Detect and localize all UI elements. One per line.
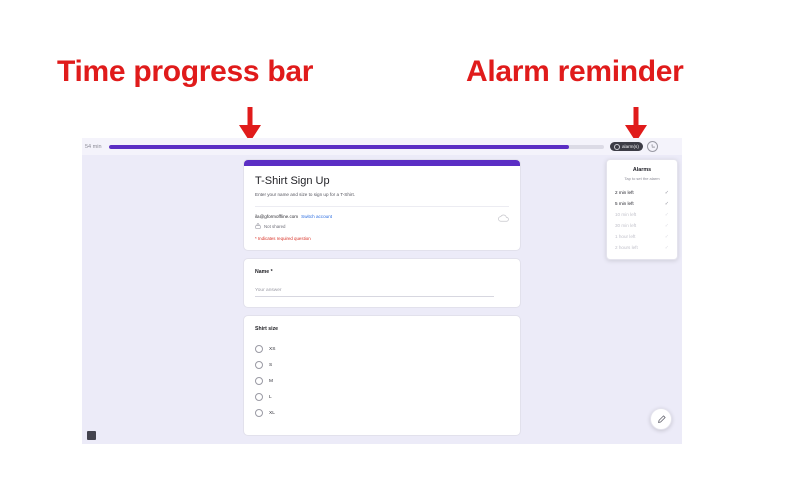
alarm-bell-icon	[614, 144, 620, 150]
option-row[interactable]: L	[255, 393, 509, 401]
option-label: S	[269, 363, 272, 368]
annotation-time-progress-bar: Time progress bar	[57, 55, 313, 89]
alarm-option-row[interactable]: 30 min left ✓	[607, 220, 677, 231]
shared-status-label: Not shared	[264, 224, 285, 229]
app-badge-icon[interactable]	[87, 431, 96, 440]
check-icon: ✓	[665, 212, 669, 218]
question-label-shirt-size: Shirt size	[255, 326, 509, 332]
check-icon: ✓	[665, 201, 669, 207]
alarm-option-label: 5 min left	[615, 201, 634, 206]
alarm-option-label: 10 min left	[615, 212, 636, 217]
alarm-option-row[interactable]: 10 min left ✓	[607, 209, 677, 220]
option-label: XS	[269, 347, 275, 352]
option-row[interactable]: M	[255, 377, 509, 385]
question-label-name: Name *	[255, 269, 509, 275]
check-icon: ✓	[665, 190, 669, 196]
check-icon: ✓	[665, 245, 669, 251]
required-question-note: * Indicates required question	[255, 236, 509, 241]
time-progress-bar[interactable]	[109, 145, 604, 149]
edit-button[interactable]	[650, 408, 672, 430]
option-row[interactable]: XL	[255, 409, 509, 417]
account-row: ila@gformoffline.comSwitch account Not s…	[255, 206, 509, 229]
alarm-option-row[interactable]: 2 hours left ✓	[607, 242, 677, 253]
app-window: 54 min alarm(s) T-Shirt Sign Up Enter yo…	[82, 138, 682, 444]
radio-icon[interactable]	[255, 345, 263, 353]
radio-icon[interactable]	[255, 361, 263, 369]
answer-input-name[interactable]: Your answer	[255, 288, 494, 297]
time-left-label: 54 min	[85, 144, 107, 150]
toolbar-right-group: alarm(s)	[610, 141, 658, 152]
radio-icon[interactable]	[255, 393, 263, 401]
not-shared-icon	[255, 223, 261, 229]
alarms-subtitle: Tap to set the alarm	[607, 176, 677, 181]
alarm-option-label: 30 min left	[615, 223, 636, 228]
shared-status-row: Not shared	[255, 223, 332, 229]
radio-icon[interactable]	[255, 377, 263, 385]
form-title: T-Shirt Sign Up	[255, 175, 509, 187]
alarm-option-label: 1 hour left	[615, 234, 635, 239]
toolbar: 54 min alarm(s)	[82, 138, 682, 155]
clock-icon[interactable]	[647, 141, 658, 152]
alarm-option-row[interactable]: 2 min left ✓	[607, 187, 677, 198]
alarm-option-row[interactable]: 5 min left ✓	[607, 198, 677, 209]
radio-icon[interactable]	[255, 409, 263, 417]
account-email-line: ila@gformoffline.comSwitch account	[255, 214, 332, 219]
switch-account-link[interactable]: Switch account	[301, 214, 332, 219]
alarm-count-pill[interactable]: alarm(s)	[610, 142, 643, 151]
option-row[interactable]: XS	[255, 345, 509, 353]
option-label: M	[269, 379, 273, 384]
alarms-title: Alarms	[607, 167, 677, 173]
option-label: XL	[269, 411, 275, 416]
pencil-icon	[657, 415, 666, 424]
form-header-card: T-Shirt Sign Up Enter your name and size…	[243, 159, 521, 251]
option-row[interactable]: S	[255, 361, 509, 369]
question-card-shirt-size: Shirt size XS S M L XL	[243, 315, 521, 436]
alarm-option-label: 2 hours left	[615, 245, 638, 250]
time-progress-fill	[109, 145, 569, 149]
alarms-popup: Alarms Tap to set the alarm 2 min left ✓…	[606, 159, 678, 260]
annotation-alarm-reminder: Alarm reminder	[466, 55, 684, 89]
account-email: ila@gformoffline.com	[255, 214, 298, 219]
alarm-option-row[interactable]: 1 hour left ✓	[607, 231, 677, 242]
form-column: T-Shirt Sign Up Enter your name and size…	[243, 159, 521, 443]
alarm-option-label: 2 min left	[615, 190, 634, 195]
cloud-icon	[498, 214, 509, 222]
question-card-name: Name * Your answer	[243, 258, 521, 308]
check-icon: ✓	[665, 234, 669, 240]
option-label: L	[269, 395, 272, 400]
check-icon: ✓	[665, 223, 669, 229]
alarm-pill-label: alarm(s)	[622, 144, 639, 149]
form-description: Enter your name and size to sign up for …	[255, 192, 509, 197]
